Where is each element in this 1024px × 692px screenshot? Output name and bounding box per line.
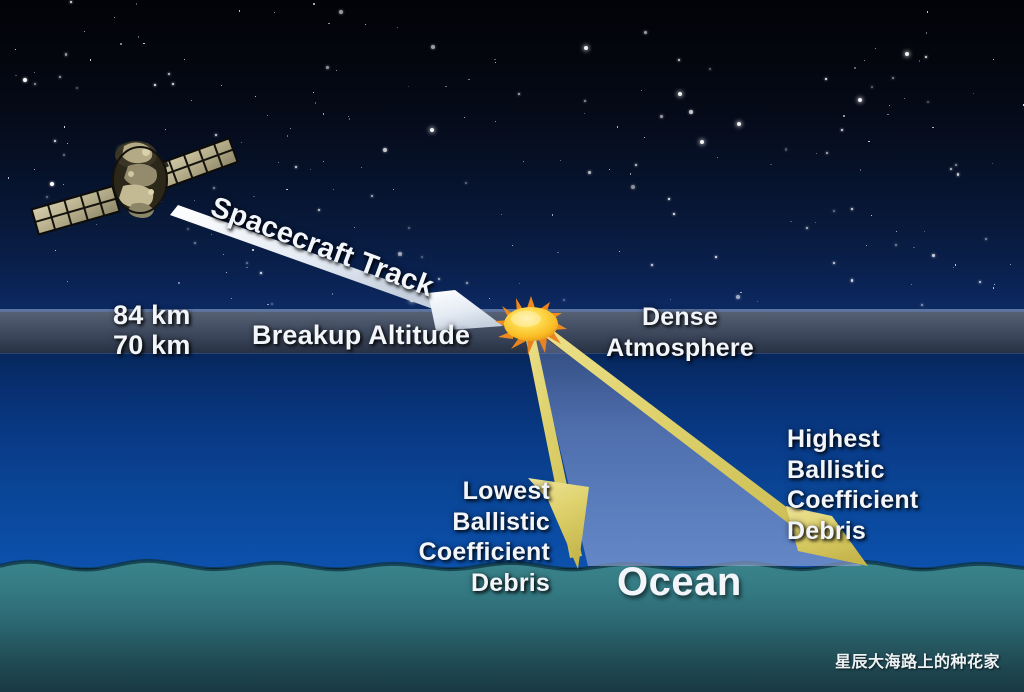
star [361, 167, 362, 168]
star [609, 169, 610, 170]
star [519, 283, 520, 284]
star [34, 83, 36, 85]
star [239, 10, 240, 11]
star [815, 222, 816, 223]
star [421, 256, 423, 258]
star [465, 182, 467, 184]
star [84, 31, 85, 32]
star [957, 173, 960, 176]
star [911, 284, 912, 285]
star [295, 166, 297, 168]
star [184, 59, 185, 60]
star [843, 115, 844, 116]
star [563, 299, 565, 301]
star [860, 169, 861, 170]
star [925, 56, 927, 58]
star [826, 152, 828, 154]
star [927, 11, 928, 12]
star [1010, 264, 1011, 265]
star [231, 298, 232, 299]
star [854, 67, 855, 68]
star [552, 214, 553, 215]
star [992, 163, 993, 164]
star [267, 115, 268, 116]
star-bright [678, 92, 682, 96]
star [868, 141, 869, 142]
star [979, 281, 981, 283]
star [318, 209, 320, 211]
star [323, 113, 324, 114]
star [339, 10, 343, 14]
star [560, 160, 561, 161]
star [919, 60, 920, 61]
star [313, 92, 314, 93]
star [310, 169, 311, 170]
star [641, 90, 642, 91]
star [864, 60, 865, 61]
star [689, 110, 693, 114]
star [136, 3, 137, 4]
star [271, 303, 273, 305]
star [851, 208, 853, 210]
star [790, 221, 791, 222]
star [715, 256, 717, 258]
star [223, 254, 224, 255]
star [887, 114, 888, 115]
star [143, 43, 144, 44]
star [584, 113, 585, 114]
star [226, 272, 227, 273]
star [23, 78, 27, 82]
star [875, 48, 876, 49]
star [896, 231, 897, 232]
dense-atmosphere-label: Dense Atmosphere [606, 302, 754, 365]
star [709, 68, 711, 70]
star [635, 164, 637, 166]
star [833, 210, 835, 212]
star [993, 59, 994, 60]
star [255, 96, 256, 97]
star [191, 100, 192, 101]
star [221, 85, 222, 86]
star [34, 72, 35, 73]
star [65, 53, 68, 56]
star [644, 137, 645, 138]
altitude-label-upper: 84 km [113, 300, 191, 332]
star [495, 121, 496, 122]
star [785, 148, 788, 151]
star [523, 161, 524, 162]
star [326, 66, 329, 69]
star [15, 75, 16, 76]
star [354, 227, 355, 228]
star [252, 249, 253, 250]
star [973, 93, 974, 94]
star [371, 195, 373, 197]
star [15, 49, 16, 50]
star [445, 86, 446, 87]
star [644, 31, 647, 34]
star-bright [430, 128, 434, 132]
star [512, 245, 513, 246]
star [673, 213, 675, 215]
star [90, 59, 91, 60]
altitude-label-lower: 70 km [113, 330, 191, 362]
star [584, 100, 586, 102]
highest-bc-debris-label: Highest Ballistic Coefficient Debris [787, 424, 918, 546]
star [138, 36, 139, 37]
star-bright [737, 122, 741, 126]
star [120, 43, 121, 44]
star [274, 12, 275, 13]
star [904, 98, 905, 99]
star [588, 171, 591, 174]
star [994, 284, 995, 285]
star [806, 227, 808, 229]
star [59, 76, 61, 78]
star [397, 27, 398, 28]
star [757, 301, 758, 302]
star [365, 24, 366, 25]
star [851, 279, 854, 282]
star [76, 87, 78, 89]
star-bright [584, 46, 588, 50]
star [670, 299, 671, 300]
star [286, 189, 287, 190]
star [825, 78, 827, 80]
star [349, 118, 350, 119]
star [668, 198, 670, 200]
star [841, 129, 843, 131]
star [955, 264, 956, 265]
star [651, 264, 653, 266]
star [290, 128, 291, 129]
star [246, 262, 248, 264]
star [985, 238, 987, 240]
star [168, 73, 170, 75]
star [871, 86, 873, 88]
star [172, 83, 174, 85]
star [717, 157, 718, 158]
star [932, 127, 933, 128]
star [260, 272, 262, 274]
star [313, 3, 314, 4]
star [393, 189, 394, 190]
star [398, 252, 402, 256]
star [328, 23, 329, 24]
star [518, 93, 520, 95]
star [466, 282, 468, 284]
star [631, 185, 635, 189]
star [557, 252, 558, 253]
star [408, 227, 410, 229]
star [927, 101, 929, 103]
star [494, 59, 495, 60]
star [55, 250, 56, 251]
star [871, 215, 872, 216]
star-bright [700, 140, 704, 144]
star [892, 77, 894, 79]
star [770, 164, 771, 165]
star [495, 62, 496, 63]
star [955, 164, 957, 166]
star-bright [858, 98, 862, 102]
star [889, 105, 890, 106]
star [246, 267, 247, 268]
star [348, 116, 349, 117]
star [740, 292, 741, 293]
star [336, 70, 337, 71]
star [332, 293, 333, 294]
star [278, 162, 279, 163]
star [315, 102, 316, 103]
star [8, 177, 9, 178]
star [660, 115, 663, 118]
star [993, 287, 994, 288]
star [383, 148, 387, 152]
star [287, 135, 288, 136]
lowest-bc-debris-label: Lowest Ballistic Coefficient Debris [419, 476, 550, 598]
star [408, 86, 409, 87]
star [464, 117, 465, 118]
star [70, 1, 72, 3]
star [114, 17, 115, 18]
star-bright [905, 52, 909, 56]
star [953, 267, 954, 268]
star [678, 59, 680, 61]
star [926, 32, 927, 33]
star [833, 262, 835, 264]
star [619, 251, 620, 252]
star [323, 161, 324, 162]
star [154, 84, 156, 86]
ocean-label: Ocean [617, 559, 742, 606]
star [895, 244, 897, 246]
star [736, 295, 740, 299]
star [950, 168, 952, 170]
watermark-text: 星辰大海路上的种花家 [835, 648, 1000, 672]
star [501, 214, 502, 215]
star [617, 126, 618, 127]
star [932, 254, 935, 257]
star [924, 231, 925, 232]
reentry-diagram: 84 km 70 km Breakup Altitude Dense Atmos… [0, 0, 1024, 692]
star [67, 281, 68, 282]
star [267, 304, 268, 305]
star [333, 189, 334, 190]
star [630, 173, 631, 174]
star [866, 245, 867, 246]
star [913, 247, 914, 248]
star [489, 298, 490, 299]
star [431, 45, 435, 49]
breakup-altitude-label: Breakup Altitude [252, 320, 470, 352]
star [438, 278, 440, 280]
star [178, 282, 179, 283]
star [921, 304, 923, 306]
star [816, 153, 817, 154]
star [468, 79, 469, 80]
